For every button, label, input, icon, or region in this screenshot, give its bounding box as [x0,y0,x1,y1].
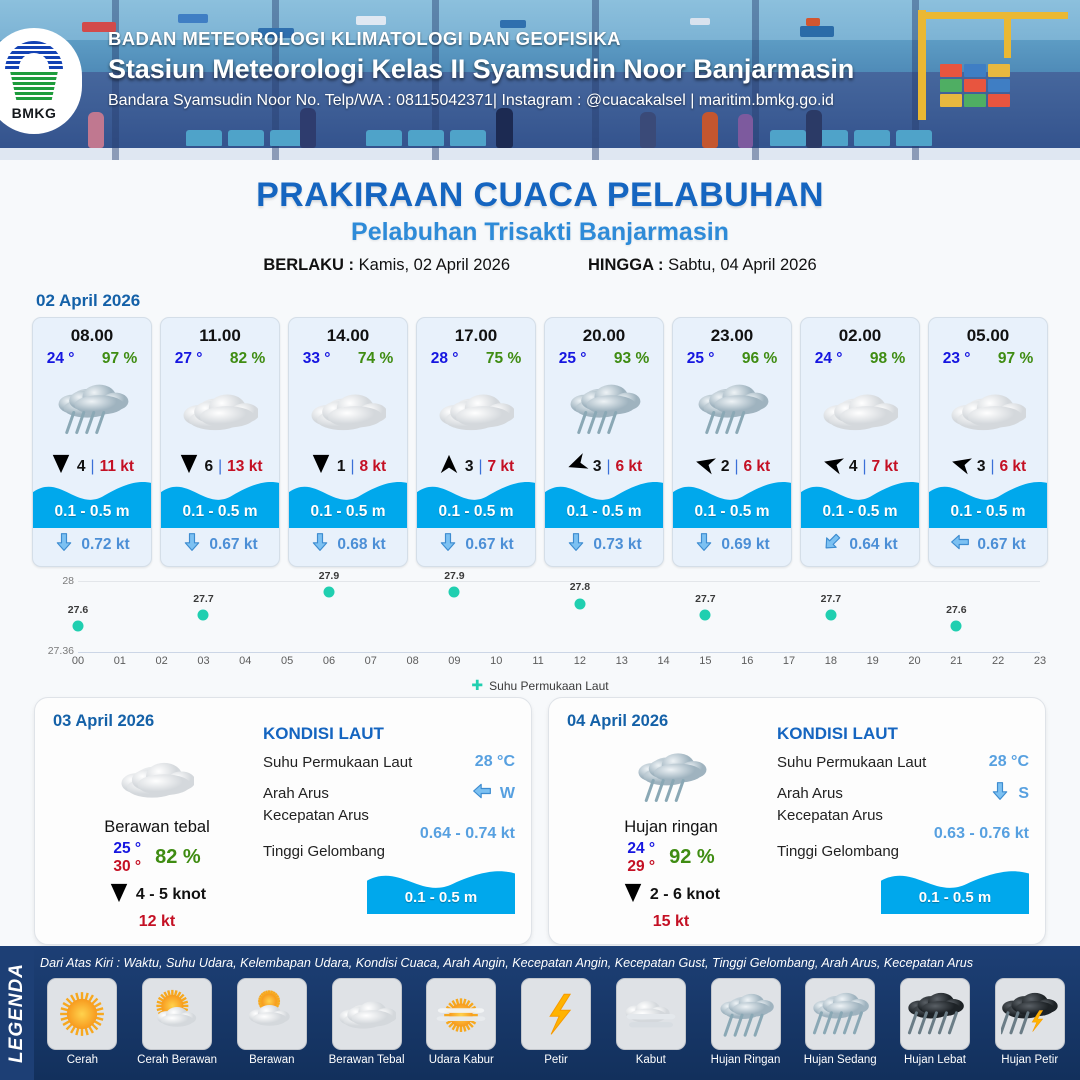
legend-side-text: LEGENDA [6,963,28,1063]
wave-height-graphic: 0.1 - 0.5 m [367,862,515,914]
current-direction-row: Arah Arus S [777,780,1029,807]
chart-x-tick: 23 [1034,655,1046,667]
legend-item-label: Hujan Sedang [804,1054,877,1066]
sst-label: Suhu Permukaan Laut [777,754,926,771]
validity-row: BERLAKU : Kamis, 02 April 2026 HINGGA : … [0,256,1080,275]
valid-to-label: HINGGA : [588,256,663,274]
card-humidity: 74 % [358,350,393,368]
valid-from: BERLAKU : Kamis, 02 April 2026 [263,256,510,275]
chart-x-tick: 10 [490,655,502,667]
chart-data-point [323,587,334,598]
card-temperature: 25 ° [559,350,587,368]
arrow-down-icon [990,780,1010,807]
chart-x-tick: 13 [616,655,628,667]
berawan-tebal-icon [182,372,258,450]
chart-data-point [198,609,209,620]
card-temperature: 28 ° [431,350,459,368]
day-humidity: 92 % [669,846,715,869]
chart-x-tick: 02 [156,655,168,667]
current-speed-row: Kecepatan Arus 0.64 - 0.74 kt [263,807,515,843]
legend-item: Kabut [606,978,695,1066]
chart-x-tick: 11 [532,655,543,667]
header-text-block: BADAN METEOROLOGI KLIMATOLOGI DAN GEOFIS… [108,28,854,110]
crane-icon [918,10,926,120]
valid-to-value: Sabtu, 04 April 2026 [668,256,817,274]
card-humidity: 96 % [742,350,777,368]
person [88,112,104,148]
card-current-speed: 0.67 kt [977,536,1025,554]
container [988,94,1010,107]
arrow-down-icon [622,881,644,910]
chart-x-tick: 08 [406,655,418,667]
card-time: 17.00 [455,326,498,346]
valid-from-value: Kamis, 02 April 2026 [359,256,510,274]
chart-x-tick: 09 [448,655,460,667]
current-speed-value: 0.63 - 0.76 kt [777,825,1029,843]
chart-x-tick: 12 [574,655,586,667]
card-wave-height: 0.1 - 0.5 m [545,503,663,521]
card-time: 23.00 [711,326,754,346]
card-wave-height: 0.1 - 0.5 m [673,503,791,521]
day-temp-range: 24 ° 29 ° [627,840,655,876]
valid-to: HINGGA : Sabtu, 04 April 2026 [588,256,817,275]
wave-height-row: Tinggi Gelombang 0.1 - 0.5 m [263,843,515,914]
daily-forecast-card: 03 April 2026 Berawan tebal 25 ° 30 ° 82… [34,697,532,945]
ship-container [806,18,820,26]
chart-x-tick: 04 [239,655,251,667]
cerah-icon [47,978,117,1050]
chart-x-tick: 15 [699,655,711,667]
legend-marker-icon: ✚ [471,677,483,694]
berawan-tebal-icon [950,372,1026,450]
card-current-speed: 0.73 kt [593,536,641,554]
chart-x-axis: 0001020304050607080910111213141516171819… [78,655,1040,671]
day-temp-min: 25 ° [113,840,141,858]
chart-x-tick: 19 [867,655,879,667]
sst-value: 28 °C [989,753,1029,771]
day-wind-range: 2 - 6 knot [650,886,720,904]
day-temp-humidity: 24 ° 29 ° 92 % [571,840,771,876]
legend-item: Hujan Lebat [891,978,980,1066]
card-humidity: 97 % [102,350,137,368]
wave-height-value: 0.1 - 0.5 m [881,889,1029,906]
card-time: 05.00 [967,326,1010,346]
card-humidity: 82 % [230,350,265,368]
legend-item-label: Berawan Tebal [329,1054,405,1066]
arrow-down-icon [566,531,586,558]
legend-item-label: Cerah Berawan [137,1054,217,1066]
current-direction-value-group: S [990,780,1029,807]
container [940,94,962,107]
ship-icon [500,20,526,28]
chart-point-label: 27.7 [695,593,715,605]
card-temp-humidity-row: 25 ° 96 % [673,350,791,368]
card-temp-humidity-row: 23 ° 97 % [929,350,1047,368]
station-name: Stasiun Meteorologi Kelas II Syamsudin N… [108,54,854,85]
arrow-down-icon [310,531,330,558]
petir-icon [521,978,591,1050]
current-direction-value-group: W [472,780,515,807]
chart-x-tick: 07 [365,655,377,667]
berawan-tebal-icon [310,372,386,450]
card-wave-height: 0.1 - 0.5 m [33,503,151,521]
seat [228,130,264,146]
bmkg-logo: BMKG [0,28,82,134]
sst-value: 28 °C [475,753,515,771]
sst-row: Suhu Permukaan Laut 28 °C [263,753,515,771]
legend-item: Hujan Ringan [701,978,790,1066]
card-current-row: 0.64 kt [801,531,919,558]
chart-point-label: 27.9 [319,570,339,582]
container [964,79,986,92]
page-header: BMKG BADAN METEOROLOGI KLIMATOLOGI DAN G… [0,0,1080,160]
card-humidity: 98 % [870,350,905,368]
seat [450,130,486,146]
card-time: 14.00 [327,326,370,346]
legend-item-label: Hujan Petir [1001,1054,1058,1066]
page-subtitle: Pelabuhan Trisakti Banjarmasin [0,218,1080,247]
card-current-row: 0.67 kt [929,531,1047,558]
legend-item-label: Hujan Lebat [904,1054,966,1066]
crane-boom [918,12,1068,19]
legend-item-label: Berawan [249,1054,294,1066]
hujan-ringan-icon [571,742,771,816]
day-weather-block: Berawan tebal 25 ° 30 ° 82 % 4 - 5 knot … [57,742,257,931]
person [738,114,753,148]
day-humidity: 82 % [155,846,201,869]
ship-icon [178,14,208,23]
card-temp-humidity-row: 24 ° 98 % [801,350,919,368]
valid-from-label: BERLAKU : [263,256,354,274]
hujan-ringan-icon [566,372,642,450]
card-wave-height: 0.1 - 0.5 m [289,503,407,521]
daily-forecast-row: 03 April 2026 Berawan tebal 25 ° 30 ° 82… [0,689,1080,945]
legend-item: Cerah [38,978,127,1066]
container [940,64,962,77]
legend-item: Berawan [227,978,316,1066]
card-wave-height: 0.1 - 0.5 m [417,503,535,521]
berawan-icon [237,978,307,1050]
day-wind-range: 4 - 5 knot [136,886,206,904]
legend-item-label: Hujan Ringan [711,1054,781,1066]
arrow-down-icon [108,881,130,910]
chart-point-label: 27.7 [193,593,213,605]
chart-x-tick: 22 [992,655,1004,667]
legend-item: Cerah Berawan [133,978,222,1066]
card-temperature: 27 ° [175,350,203,368]
day-condition: Berawan tebal [57,818,257,837]
card-temp-humidity-row: 28 ° 75 % [417,350,535,368]
chart-x-tick: 20 [908,655,920,667]
seat [366,130,402,146]
legend-side-label: LEGENDA [0,946,34,1080]
arrow-down-icon [182,531,202,558]
chart-x-tick: 18 [825,655,837,667]
current-direction-row: Arah Arus W [263,780,515,807]
seat [770,130,806,146]
card-time: 08.00 [71,326,114,346]
sea-conditions-block: KONDISI LAUT Suhu Permukaan Laut 28 °C A… [263,724,515,914]
berawan-tebal-icon [57,742,257,816]
contact-info: Bandara Syamsudin Noor No. Telp/WA : 081… [108,92,854,110]
day-temp-max: 29 ° [627,858,655,876]
hujan-ringan-icon [694,372,770,450]
card-time: 11.00 [199,326,241,346]
current-speed-label: Kecepatan Arus [777,807,1029,824]
current-speed-label: Kecepatan Arus [263,807,515,824]
y-tick-top: 28 [34,575,74,587]
legend-item-label: Kabut [636,1054,666,1066]
container [940,79,962,92]
chart-x-tick: 00 [72,655,84,667]
chart-data-point [825,609,836,620]
day-temp-range: 25 ° 30 ° [113,840,141,876]
sea-conditions-block: KONDISI LAUT Suhu Permukaan Laut 28 °C A… [777,724,1029,914]
arrow-down-icon [438,531,458,558]
chart-x-tick: 21 [950,655,962,667]
legend-bar: LEGENDA Dari Atas Kiri : Waktu, Suhu Uda… [0,946,1080,1080]
card-current-speed: 0.69 kt [721,536,769,554]
day-condition: Hujan ringan [571,818,771,837]
chart-data-point [951,621,962,632]
chart-x-tick: 03 [197,655,209,667]
card-current-speed: 0.68 kt [337,536,385,554]
day-temp-humidity: 25 ° 30 ° 82 % [57,840,257,876]
card-current-speed: 0.72 kt [81,536,129,554]
card-current-row: 0.68 kt [289,531,407,558]
arrow-down-icon [54,531,74,558]
card-temperature: 24 ° [815,350,843,368]
page-title: PRAKIRAAN CUACA PELABUHAN [0,176,1080,215]
wave-height-label: Tinggi Gelombang [263,843,515,860]
card-humidity: 97 % [998,350,1033,368]
container [988,79,1010,92]
card-current-row: 0.73 kt [545,531,663,558]
chart-x-tick: 05 [281,655,293,667]
bmkg-emblem-icon [5,41,63,103]
card-temperature: 24 ° [47,350,75,368]
card-temp-humidity-row: 33 ° 74 % [289,350,407,368]
berawan-tebal-icon [822,372,898,450]
legend-item-label: Petir [544,1054,568,1066]
seat [896,130,932,146]
day-gust-speed: 12 kt [57,913,257,931]
chart-x-tick: 17 [783,655,795,667]
y-tick-bottom: 27.36 [34,645,74,657]
sea-conditions-title: KONDISI LAUT [777,724,1029,744]
wave-height-value: 0.1 - 0.5 m [367,889,515,906]
card-temperature: 25 ° [687,350,715,368]
day-wind-row: 2 - 6 knot [571,881,771,910]
hujan-petir-icon [995,978,1065,1050]
hourly-date-label: 02 April 2026 [36,291,1080,311]
seat [854,130,890,146]
hourly-forecast-card: 14.00 33 ° 74 % 1 | 8 kt 0.1 - 0.5 m 0 [288,317,408,567]
chart-data-point [574,598,585,609]
person [640,112,656,148]
hourly-forecast-row: 08.00 24 ° 97 % 4 | 11 kt 0.1 - 0.5 m [0,317,1080,567]
current-direction-value: S [1018,785,1029,803]
udara-kabur-icon [426,978,496,1050]
chart-data-point [449,587,460,598]
container [964,94,986,107]
chart-point-label: 27.6 [946,604,966,616]
card-temp-humidity-row: 27 ° 82 % [161,350,279,368]
legend-item-label: Udara Kabur [429,1054,494,1066]
day-gust-speed: 15 kt [571,913,771,931]
chart-x-tick: 16 [741,655,753,667]
title-block: PRAKIRAAN CUACA PELABUHAN Pelabuhan Tris… [0,176,1080,275]
card-current-row: 0.72 kt [33,531,151,558]
card-humidity: 75 % [486,350,521,368]
person [806,110,822,148]
seat [408,130,444,146]
berawan-tebal-icon [438,372,514,450]
current-speed-value: 0.64 - 0.74 kt [263,825,515,843]
chart-legend-label: Suhu Permukaan Laut [489,679,608,693]
legend-item: Udara Kabur [417,978,506,1066]
card-current-row: 0.69 kt [673,531,791,558]
person [496,108,513,148]
card-humidity: 93 % [614,350,649,368]
hourly-forecast-card: 02.00 24 ° 98 % 4 | 7 kt 0.1 - 0.5 m 0 [800,317,920,567]
current-speed-row: Kecepatan Arus 0.63 - 0.76 kt [777,807,1029,843]
chart-data-point [73,621,84,632]
legend-item: Hujan Sedang [796,978,885,1066]
arrow-down-icon [694,531,714,558]
person [300,108,316,148]
hourly-forecast-card: 17.00 28 ° 75 % 3 | 7 kt 0.1 - 0.5 m 0 [416,317,536,567]
card-temp-humidity-row: 24 ° 97 % [33,350,151,368]
card-temperature: 33 ° [303,350,331,368]
seat [186,130,222,146]
container [988,64,1010,77]
sst-label: Suhu Permukaan Laut [263,754,412,771]
legend-item-label: Cerah [67,1054,98,1066]
ship-icon [356,16,386,25]
hujan-ringan-icon [54,372,130,450]
legend-item: Berawan Tebal [322,978,411,1066]
hourly-forecast-card: 23.00 25 ° 96 % 2 | 6 kt 0.1 - 0.5 m 0 [672,317,792,567]
day-temp-min: 24 ° [627,840,655,858]
legend-item: Petir [512,978,601,1066]
current-direction-label: Arah Arus [777,785,843,802]
hujan-lebat-icon [900,978,970,1050]
current-direction-value: W [500,785,515,803]
card-wave-height: 0.1 - 0.5 m [929,503,1047,521]
person [702,112,718,148]
card-temperature: 23 ° [943,350,971,368]
current-direction-label: Arah Arus [263,785,329,802]
day-weather-block: Hujan ringan 24 ° 29 ° 92 % 2 - 6 knot 1… [571,742,771,931]
ship-icon [690,18,710,25]
chart-x-tick: 06 [323,655,335,667]
berawan-tebal-icon [332,978,402,1050]
crane-leg [1004,14,1011,58]
hourly-forecast-card: 20.00 25 ° 93 % 3 | 6 kt 0.1 - 0.5 m 0 [544,317,664,567]
card-current-row: 0.67 kt [161,531,279,558]
hujan-ringan-icon [711,978,781,1050]
card-current-speed: 0.64 kt [849,536,897,554]
sea-conditions-title: KONDISI LAUT [263,724,515,744]
arrow-left-icon [472,780,492,807]
card-current-speed: 0.67 kt [209,536,257,554]
wave-height-graphic: 0.1 - 0.5 m [881,862,1029,914]
sst-row: Suhu Permukaan Laut 28 °C [777,753,1029,771]
chart-point-label: 27.7 [821,593,841,605]
hourly-forecast-card: 05.00 23 ° 97 % 3 | 6 kt 0.1 - 0.5 m 0 [928,317,1048,567]
card-current-row: 0.67 kt [417,531,535,558]
chart-data-point [700,609,711,620]
chart-x-tick: 14 [657,655,669,667]
wave-height-row: Tinggi Gelombang 0.1 - 0.5 m [777,843,1029,914]
wave-height-label: Tinggi Gelombang [777,843,1029,860]
chart-point-label: 27.6 [68,604,88,616]
arrow-down-icon [822,531,842,558]
legend-item-list: Cerah Cerah Berawan Berawan Bera [38,978,1074,1066]
legend-note: Dari Atas Kiri : Waktu, Suhu Udara, Kele… [40,956,1076,970]
chart-legend: ✚ Suhu Permukaan Laut [34,677,1046,694]
day-wind-row: 4 - 5 knot [57,881,257,910]
sst-chart: 27.627.727.927.927.827.727.727.6 28 27.3… [34,581,1046,689]
card-temp-humidity-row: 25 ° 93 % [545,350,663,368]
card-wave-height: 0.1 - 0.5 m [161,503,279,521]
chart-x-tick: 01 [114,655,126,667]
card-time: 20.00 [583,326,626,346]
hourly-forecast-card: 11.00 27 ° 82 % 6 | 13 kt 0.1 - 0.5 m [160,317,280,567]
chart-plot-area: 27.627.727.927.927.827.727.727.6 [78,581,1040,653]
container [964,64,986,77]
hujan-sedang-icon [805,978,875,1050]
chart-point-label: 27.9 [444,570,464,582]
agency-name: BADAN METEOROLOGI KLIMATOLOGI DAN GEOFIS… [108,28,854,50]
kabut-icon [616,978,686,1050]
daily-forecast-card: 04 April 2026 Hujan ringan 24 ° 29 ° 92 … [548,697,1046,945]
card-wave-height: 0.1 - 0.5 m [801,503,919,521]
chart-point-label: 27.8 [570,581,590,593]
card-current-speed: 0.67 kt [465,536,513,554]
hourly-forecast-card: 08.00 24 ° 97 % 4 | 11 kt 0.1 - 0.5 m [32,317,152,567]
bmkg-logo-text: BMKG [12,105,57,121]
card-time: 02.00 [839,326,882,346]
cerah-berawan-icon [142,978,212,1050]
day-temp-max: 30 ° [113,858,141,876]
arrow-left-icon [950,531,970,558]
legend-item: Hujan Petir [985,978,1074,1066]
